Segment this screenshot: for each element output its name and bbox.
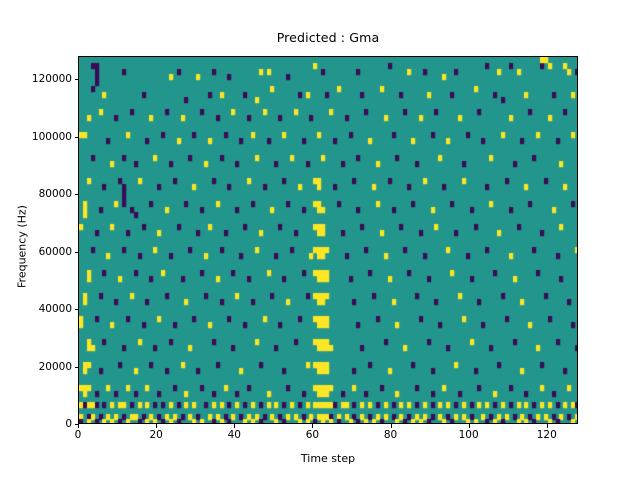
page-title: Predicted : Gma xyxy=(78,30,578,45)
y-tick-mark xyxy=(75,252,79,253)
y-tick-mark xyxy=(75,137,79,138)
y-tick-label: 20000 xyxy=(39,361,72,373)
x-tick-mark xyxy=(469,424,470,428)
x-tick-mark xyxy=(547,424,548,428)
y-tick-mark xyxy=(75,367,79,368)
x-tick-label: 0 xyxy=(75,429,82,441)
y-tick-mark xyxy=(75,424,79,425)
y-tick-label: 60000 xyxy=(39,246,72,258)
y-tick-label: 80000 xyxy=(39,188,72,200)
heatmap-axes xyxy=(78,56,578,424)
y-tick-label: 40000 xyxy=(39,303,72,315)
y-tick-label: 0 xyxy=(65,418,72,430)
heatmap-plot-area xyxy=(79,57,578,424)
x-axis-label: Time step xyxy=(78,452,578,465)
y-tick-mark xyxy=(75,79,79,80)
x-tick-label: 40 xyxy=(228,429,241,441)
x-tick-mark xyxy=(234,424,235,428)
x-tick-mark xyxy=(156,424,157,428)
x-tick-label: 100 xyxy=(459,429,479,441)
y-tick-mark xyxy=(75,194,79,195)
y-tick-label: 120000 xyxy=(32,73,72,85)
x-tick-label: 60 xyxy=(306,429,319,441)
x-tick-label: 80 xyxy=(384,429,397,441)
x-tick-mark xyxy=(312,424,313,428)
x-tick-mark xyxy=(78,424,79,428)
x-tick-mark xyxy=(391,424,392,428)
y-tick-label: 100000 xyxy=(32,131,72,143)
y-tick-mark xyxy=(75,309,79,310)
matplotlib-figure: Predicted : Gma 020406080100120 02000040… xyxy=(0,0,640,480)
x-tick-label: 20 xyxy=(149,429,162,441)
y-axis-label: Frequency (Hz) xyxy=(16,167,29,327)
x-tick-label: 120 xyxy=(537,429,557,441)
